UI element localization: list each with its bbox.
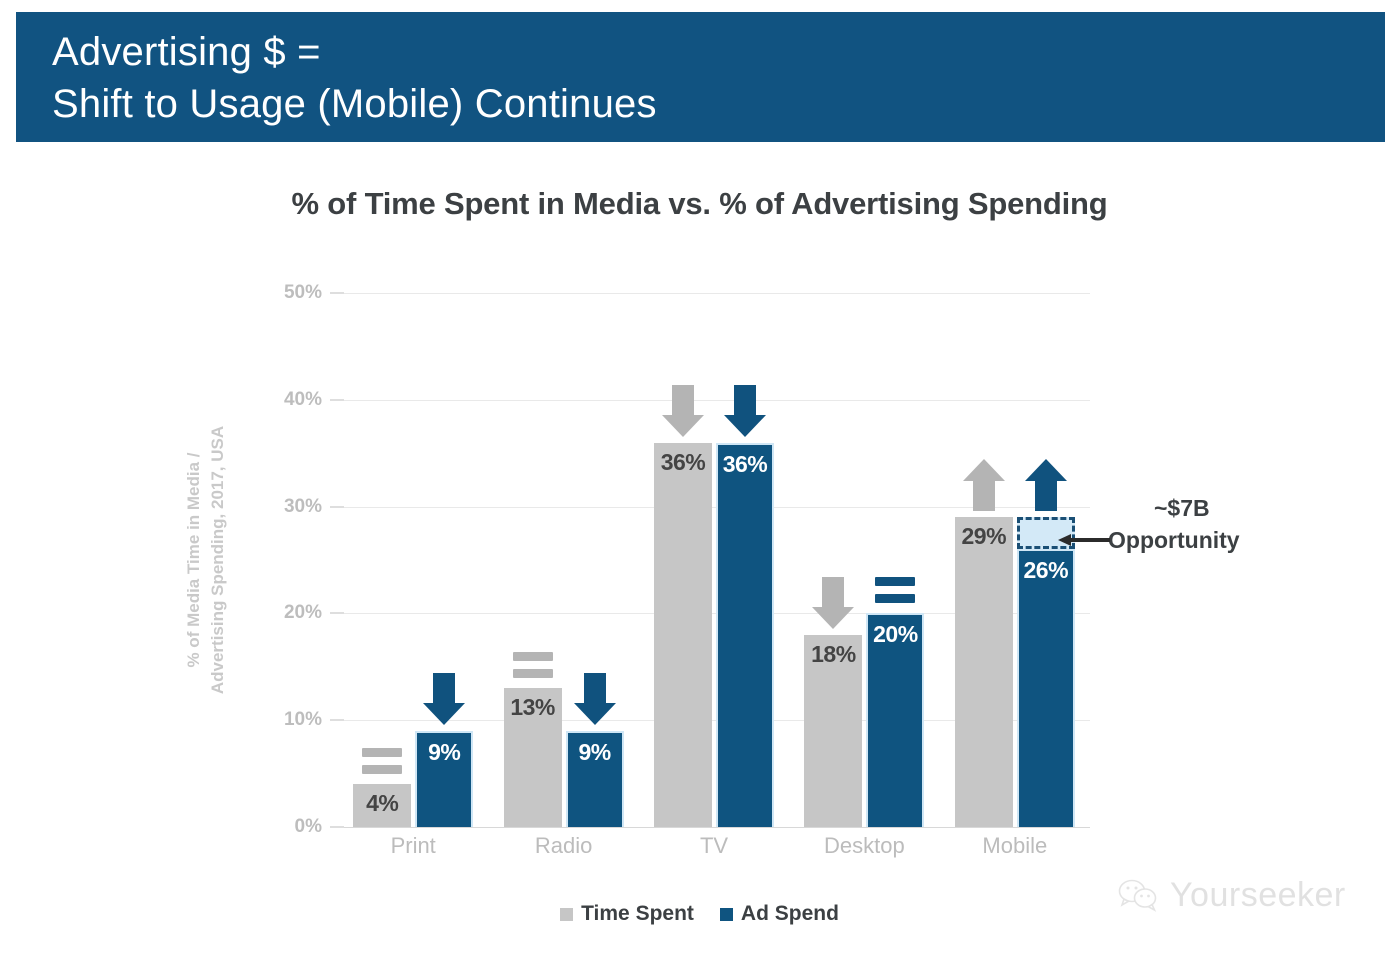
chart-area: % of Media Time in Media / Advertising S… <box>0 0 1399 960</box>
bar-group: 29%26%Mobile <box>955 293 1075 827</box>
opportunity-amount: ~$7B <box>1108 492 1348 524</box>
watermark: Yourseeker <box>1118 876 1346 915</box>
x-axis-category-label: Print <box>339 833 487 859</box>
bar-time-spent[interactable]: 13% <box>504 688 562 827</box>
x-axis-category-label: Radio <box>490 833 638 859</box>
y-axis-title: % of Media Time in Media / Advertising S… <box>176 293 236 827</box>
y-axis-tick-label: 0% <box>262 816 322 838</box>
arrow-up-icon <box>955 457 1013 513</box>
legend-swatch <box>720 908 733 921</box>
opportunity-label: Opportunity <box>1108 524 1348 556</box>
arrow-down-icon <box>716 383 774 439</box>
y-axis-tick-label: 30% <box>262 496 322 518</box>
bar-group: 13%9%Radio <box>504 293 624 827</box>
y-axis-tick-label: 20% <box>262 602 322 624</box>
y-axis-tick-label: 40% <box>262 389 322 411</box>
bar-value-label: 18% <box>804 641 862 668</box>
legend-swatch <box>560 908 573 921</box>
y-axis-tick-mark <box>330 826 344 828</box>
bar-value-label: 36% <box>718 451 772 478</box>
y-axis-title-line-1: % of Media Time in Media / <box>184 452 203 667</box>
bar-group: 4%9%Print <box>353 293 473 827</box>
bar-group: 18%20%Desktop <box>804 293 924 827</box>
bar-time-spent[interactable]: 29% <box>955 517 1013 827</box>
legend-item[interactable]: Time Spent <box>560 902 694 926</box>
y-axis-ticks: 50%40%30%20%10%0% <box>262 293 322 827</box>
bar-value-label: 9% <box>417 739 471 766</box>
bar-group: 36%36%TV <box>654 293 774 827</box>
equals-icon <box>353 724 411 780</box>
y-axis-tick-mark <box>330 399 344 401</box>
y-axis-tick-mark <box>330 506 344 508</box>
bar-value-label: 36% <box>654 449 712 476</box>
plot-area: 4%9%Print13%9%Radio36%36%TV18%20%Desktop… <box>338 293 1090 827</box>
y-axis-title-line-2: Advertising Spending, 2017, USA <box>208 426 227 694</box>
gridline <box>338 827 1090 828</box>
legend-label: Time Spent <box>581 902 694 926</box>
arrow-up-icon <box>1017 457 1075 513</box>
bar-ad-spend[interactable]: 9% <box>566 731 624 827</box>
y-axis-tick-mark <box>330 719 344 721</box>
bar-value-label: 13% <box>504 694 562 721</box>
bar-time-spent[interactable]: 36% <box>654 443 712 827</box>
arrow-down-icon <box>804 575 862 631</box>
legend-label: Ad Spend <box>741 902 839 926</box>
opportunity-annotation: ~$7BOpportunity <box>1108 492 1348 556</box>
bar-value-label: 26% <box>1019 557 1073 584</box>
x-axis-category-label: Mobile <box>941 833 1089 859</box>
y-axis-tick-mark <box>330 612 344 614</box>
bar-value-label: 9% <box>568 739 622 766</box>
arrow-down-icon <box>566 671 624 727</box>
bar-value-label: 20% <box>868 621 922 648</box>
x-axis-category-label: TV <box>640 833 788 859</box>
x-axis-category-label: Desktop <box>790 833 938 859</box>
y-axis-tick-label: 10% <box>262 709 322 731</box>
opportunity-pointer-arrow-icon <box>1058 534 1110 546</box>
bar-ad-spend[interactable]: 26% <box>1017 549 1075 827</box>
bar-time-spent[interactable]: 18% <box>804 635 862 827</box>
arrow-down-icon <box>654 383 712 439</box>
wechat-icon <box>1118 879 1160 913</box>
bar-value-label: 4% <box>353 790 411 817</box>
bar-value-label: 29% <box>955 523 1013 550</box>
bar-ad-spend[interactable]: 9% <box>415 731 473 827</box>
y-axis-tick-label: 50% <box>262 282 322 304</box>
arrow-down-icon <box>415 671 473 727</box>
bar-ad-spend[interactable]: 36% <box>716 443 774 827</box>
bar-ad-spend[interactable]: 20% <box>866 613 924 827</box>
y-axis-tick-mark <box>330 292 344 294</box>
legend-item[interactable]: Ad Spend <box>720 902 839 926</box>
equals-icon <box>866 553 924 609</box>
bar-time-spent[interactable]: 4% <box>353 784 411 827</box>
equals-icon <box>504 628 562 684</box>
watermark-text: Yourseeker <box>1170 876 1346 915</box>
